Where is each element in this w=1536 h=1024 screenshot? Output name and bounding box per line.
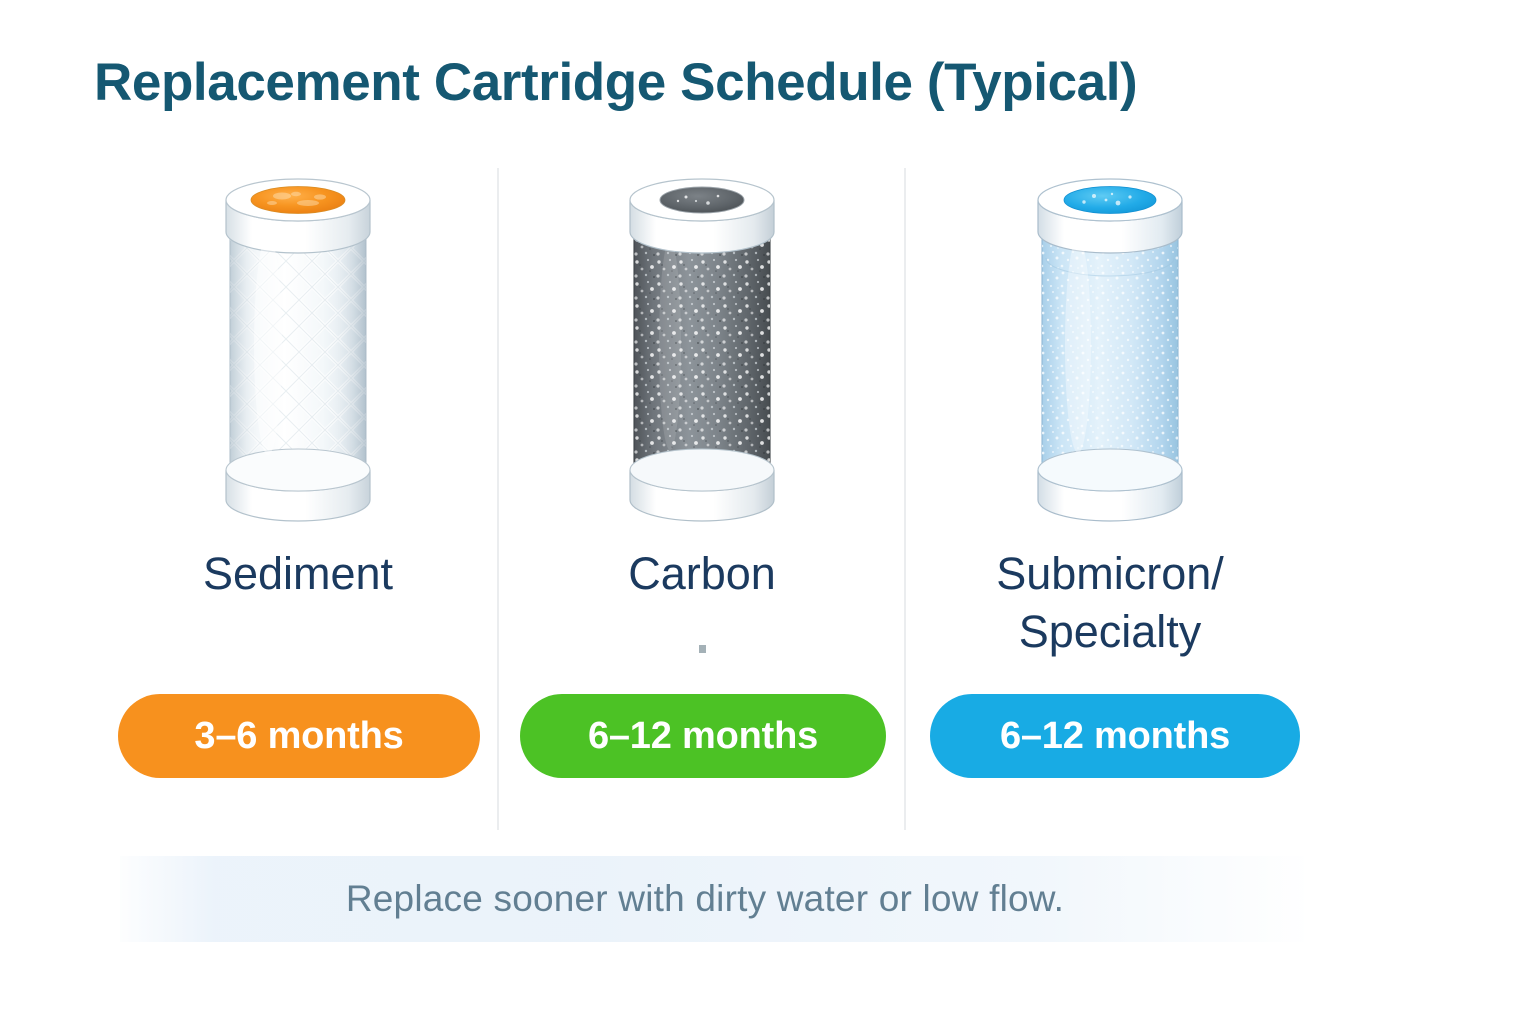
carbon-cartridge-image bbox=[612, 170, 792, 530]
replacement-interval-badge-carbon[interactable]: 6–12 months bbox=[520, 694, 886, 778]
stray-dot-artifact bbox=[699, 645, 706, 653]
cartridge-column-carbon: Carbon 6–12 months bbox=[502, 160, 902, 840]
page-title: Replacement Cartridge Schedule (Typical) bbox=[94, 52, 1137, 113]
filter-type-line-1: Submicron/ bbox=[910, 545, 1310, 603]
filter-type-line-2: Specialty bbox=[910, 603, 1310, 661]
infographic-canvas: Replacement Cartridge Schedule (Typical) bbox=[0, 0, 1536, 1024]
filter-type-line-1: Sediment bbox=[98, 545, 498, 603]
sediment-cartridge-image bbox=[208, 170, 388, 530]
replacement-interval-badge-submicron[interactable]: 6–12 months bbox=[930, 694, 1300, 778]
submicron-cartridge-image bbox=[1020, 170, 1200, 530]
filter-type-label-sediment: Sediment bbox=[98, 545, 498, 603]
carbon-cartridge-icon bbox=[612, 170, 792, 530]
filter-type-label-carbon: Carbon bbox=[502, 545, 902, 603]
interval-text: 6–12 months bbox=[588, 715, 818, 758]
interval-text: 3–6 months bbox=[194, 715, 403, 758]
cartridge-columns: Sediment 3–6 months bbox=[0, 160, 1536, 840]
submicron-cartridge-icon bbox=[1020, 170, 1200, 530]
filter-type-label-submicron: Submicron/ Specialty bbox=[910, 545, 1310, 661]
replacement-interval-badge-sediment[interactable]: 3–6 months bbox=[118, 694, 480, 778]
cartridge-column-sediment: Sediment 3–6 months bbox=[98, 160, 498, 840]
footer-note-text: Replace sooner with dirty water or low f… bbox=[0, 858, 1410, 940]
cartridge-column-submicron: Submicron/ Specialty 6–12 months bbox=[910, 160, 1310, 840]
interval-text: 6–12 months bbox=[1000, 715, 1230, 758]
filter-type-line-1: Carbon bbox=[502, 545, 902, 603]
sediment-cartridge-icon bbox=[208, 170, 388, 530]
